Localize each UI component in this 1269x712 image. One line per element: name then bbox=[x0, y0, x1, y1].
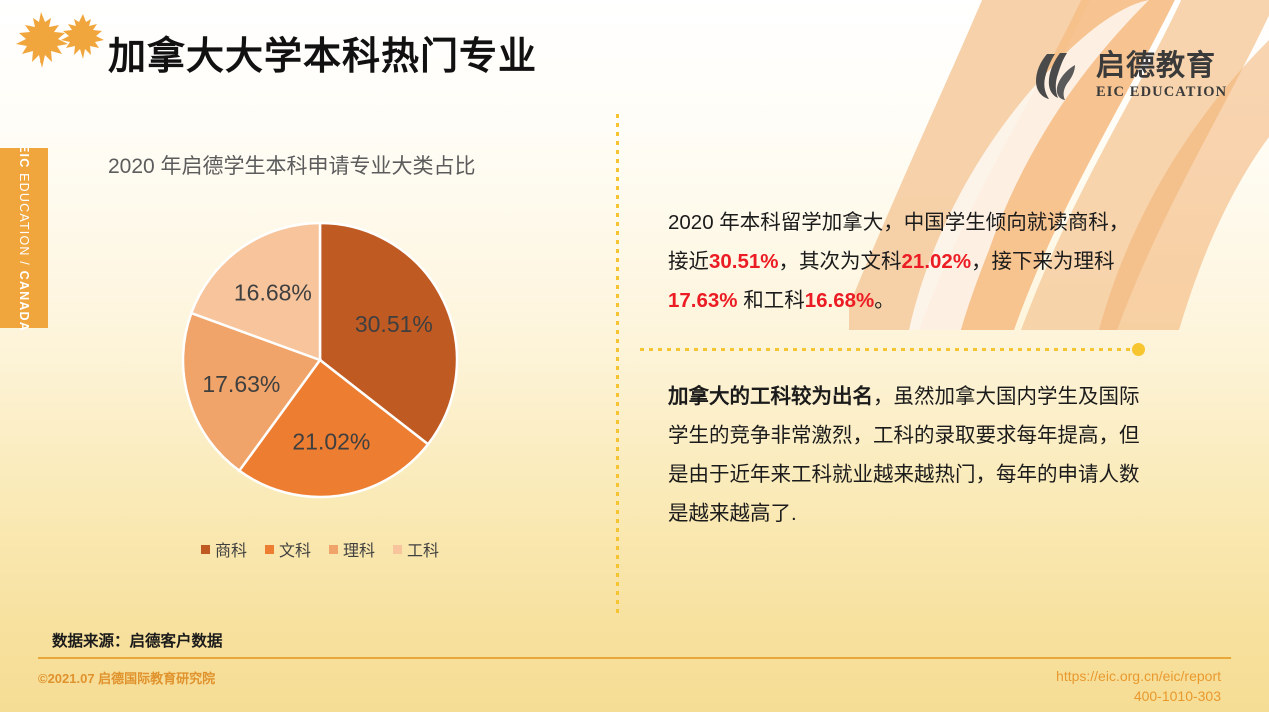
maple-leaf-icon bbox=[8, 4, 104, 70]
legend-item: 理科 bbox=[329, 537, 375, 561]
legend-swatch-icon bbox=[329, 545, 338, 554]
p1-highlight-engineering: 16.68% bbox=[805, 289, 875, 312]
eic-logo-mark-icon bbox=[1030, 48, 1086, 104]
side-tab-bold-eic: EIC bbox=[17, 144, 31, 168]
p1-part4: 和工科 bbox=[738, 289, 805, 312]
paragraph-engineering: 加拿大的工科较为出名，虽然加拿大国内学生及国际学生的竞争非常激烈，工科的录取要求… bbox=[668, 377, 1143, 533]
legend-item: 文科 bbox=[265, 537, 311, 561]
chart-legend: 商科文科理科工科 bbox=[160, 537, 480, 561]
legend-label: 文科 bbox=[279, 537, 311, 561]
pie-chart: 30.51%21.02%17.63%16.68% bbox=[160, 205, 480, 525]
pie-slice-label: 16.68% bbox=[234, 280, 312, 306]
side-tab-canada: EIC EDUCATION / CANADA bbox=[0, 148, 48, 328]
hotline-number: 400-1010-303 bbox=[1056, 686, 1221, 706]
footer-divider bbox=[38, 657, 1231, 659]
p2-lead: 加拿大的工科较为出名 bbox=[668, 385, 873, 408]
page-title: 加拿大大学本科热门专业 bbox=[108, 25, 537, 80]
divider-end-dot-icon bbox=[1132, 343, 1145, 356]
pie-slice-label: 21.02% bbox=[292, 428, 370, 454]
p1-part3: ，接下来为理科 bbox=[971, 250, 1115, 273]
p1-part5: 。 bbox=[874, 289, 895, 312]
pie-slice-label: 17.63% bbox=[202, 371, 280, 397]
legend-label: 工科 bbox=[407, 537, 439, 561]
legend-label: 商科 bbox=[215, 537, 247, 561]
p1-highlight-arts: 21.02% bbox=[902, 250, 972, 273]
chart-title: 2020 年启德学生本科申请专业大类占比 bbox=[108, 150, 476, 180]
slide-canvas: 加拿大大学本科热门专业 启德教育 EIC EDUCATION EIC EDUCA… bbox=[0, 0, 1269, 712]
legend-item: 商科 bbox=[201, 537, 247, 561]
report-url[interactable]: https://eic.org.cn/eic/report bbox=[1056, 666, 1221, 686]
p1-highlight-business: 30.51% bbox=[709, 250, 779, 273]
brand-logo: 启德教育 EIC EDUCATION bbox=[1030, 48, 1227, 104]
horizontal-dotted-divider bbox=[640, 348, 1132, 351]
logo-cn-name: 启德教育 bbox=[1096, 52, 1227, 81]
pie-slice-label: 30.51% bbox=[355, 311, 433, 337]
side-tab-middle: EDUCATION / bbox=[17, 168, 31, 270]
p1-highlight-science: 17.63% bbox=[668, 289, 738, 312]
legend-swatch-icon bbox=[393, 545, 402, 554]
side-tab-label: EIC EDUCATION / CANADA bbox=[17, 144, 31, 332]
legend-label: 理科 bbox=[343, 537, 375, 561]
legend-item: 工科 bbox=[393, 537, 439, 561]
paragraph-statistics: 2020 年本科留学加拿大，中国学生倾向就读商科，接近30.51%，其次为文科2… bbox=[668, 203, 1143, 320]
legend-swatch-icon bbox=[265, 545, 274, 554]
side-tab-bold-canada: CANADA bbox=[17, 271, 31, 332]
logo-en-name: EIC EDUCATION bbox=[1096, 85, 1227, 100]
legend-swatch-icon bbox=[201, 545, 210, 554]
p1-part2: ，其次为文科 bbox=[779, 250, 902, 273]
footer-contact: https://eic.org.cn/eic/report 400-1010-3… bbox=[1056, 666, 1221, 706]
copyright-text: ©2021.07 启德国际教育研究院 bbox=[38, 668, 215, 687]
vertical-dotted-divider bbox=[616, 114, 619, 614]
data-source-note: 数据来源：启德客户数据 bbox=[52, 629, 223, 651]
